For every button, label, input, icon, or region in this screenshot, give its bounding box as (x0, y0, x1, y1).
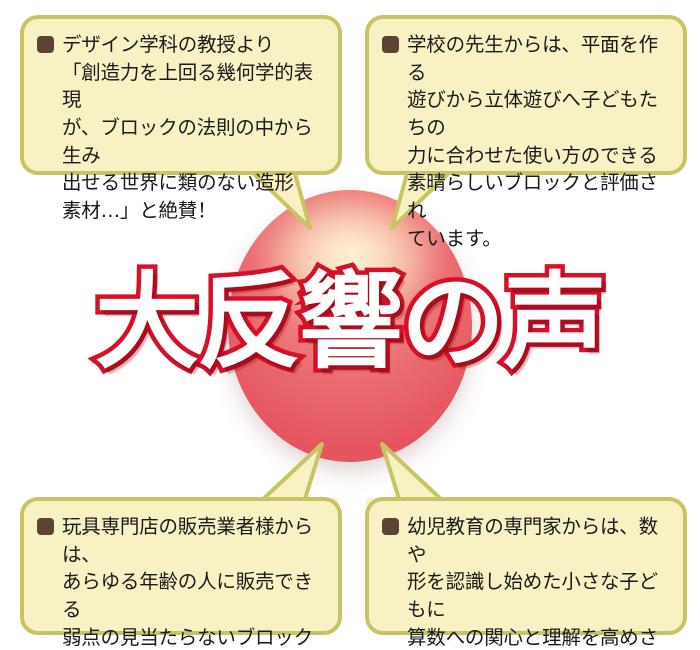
testimonial-text-top-left: デザイン学科の教授より 「創造力を上回る幾何学的表現 が、ブロックの法則の中から… (62, 31, 326, 225)
testimonial-bubble-top-right: 学校の先生からは、平面を作る 遊びから立体遊びへ子どもたちの 力に合わせた使い方… (365, 15, 687, 175)
square-bullet-icon (382, 36, 399, 53)
bubble-tail-bottom-right (366, 442, 446, 504)
testimonial-text-top-right: 学校の先生からは、平面を作る 遊びから立体遊びへ子どもたちの 力に合わせた使い方… (407, 31, 671, 253)
square-bullet-icon (382, 518, 399, 535)
testimonial-text-bottom-right: 幼児教育の専門家からは、数や 形を認識し始めた小さな子どもに 算数への関心と理解… (407, 513, 671, 650)
testimonial-bubble-bottom-right: 幼児教育の専門家からは、数や 形を認識し始めた小さな子どもに 算数への関心と理解… (365, 497, 687, 635)
testimonial-bubble-top-left: デザイン学科の教授より 「創造力を上回る幾何学的表現 が、ブロックの法則の中から… (20, 15, 342, 175)
testimonial-bubble-bottom-left: 玩具専門店の販売業者様からは、 あらゆる年齢の人に販売できる 弱点の見当たらない… (20, 497, 342, 635)
square-bullet-icon (37, 36, 54, 53)
bubble-tail-bottom-left (258, 442, 338, 504)
testimonial-poster: 大反響の声 デザイン学科の教授より 「創造力を上回る幾何学的表現 が、ブロックの… (0, 0, 700, 650)
square-bullet-icon (37, 518, 54, 535)
testimonial-text-bottom-left: 玩具専門店の販売業者様からは、 あらゆる年齢の人に販売できる 弱点の見当たらない… (62, 513, 326, 650)
